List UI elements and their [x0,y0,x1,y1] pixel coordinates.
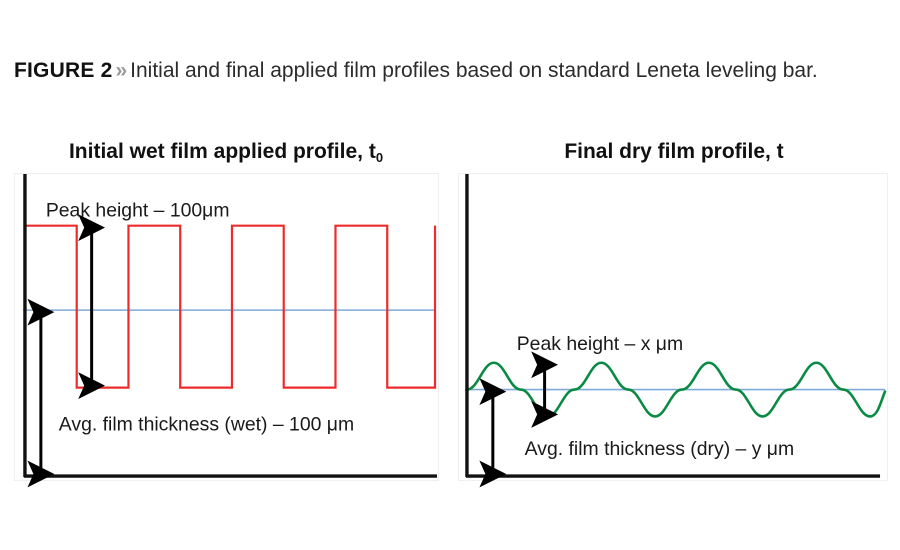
plot-initial-wet: Peak height – 100μm Avg. film thickness … [15,174,438,480]
panel-final-dry: Final dry film profile, t Peak height – … [448,140,900,500]
plot-frame-initial-wet: Peak height – 100μm Avg. film thickness … [14,173,439,481]
avg-thickness-label-dry: Avg. film thickness (dry) – y μm [525,438,794,460]
panel-title-initial-wet-subscript: 0 [376,150,383,165]
caption-text: Initial and final applied film profiles … [130,59,818,82]
avg-thickness-label-wet: Avg. film thickness (wet) – 100 μm [59,413,354,435]
peak-height-label-dry: Peak height – x μm [517,333,683,355]
plot-frame-final-dry: Peak height – x μm Avg. film thickness (… [458,173,888,481]
panel-title-final-dry: Final dry film profile, t [448,140,900,164]
plot-final-dry: Peak height – x μm Avg. film thickness (… [459,174,887,480]
caption-separator: » [112,59,130,82]
panel-title-final-dry-text: Final dry film profile, t [564,140,783,163]
panel-title-initial-wet: Initial wet film applied profile, t0 [0,140,452,164]
panel-title-initial-wet-text: Initial wet film applied profile, t [69,140,376,163]
figure-label: FIGURE 2 [14,59,112,82]
figure-caption: FIGURE 2»Initial and final applied film … [14,57,844,85]
panel-initial-wet: Initial wet film applied profile, t0 [0,140,452,500]
peak-height-label-wet: Peak height – 100μm [46,200,230,222]
wet-film-profile-square-wave [25,226,435,388]
